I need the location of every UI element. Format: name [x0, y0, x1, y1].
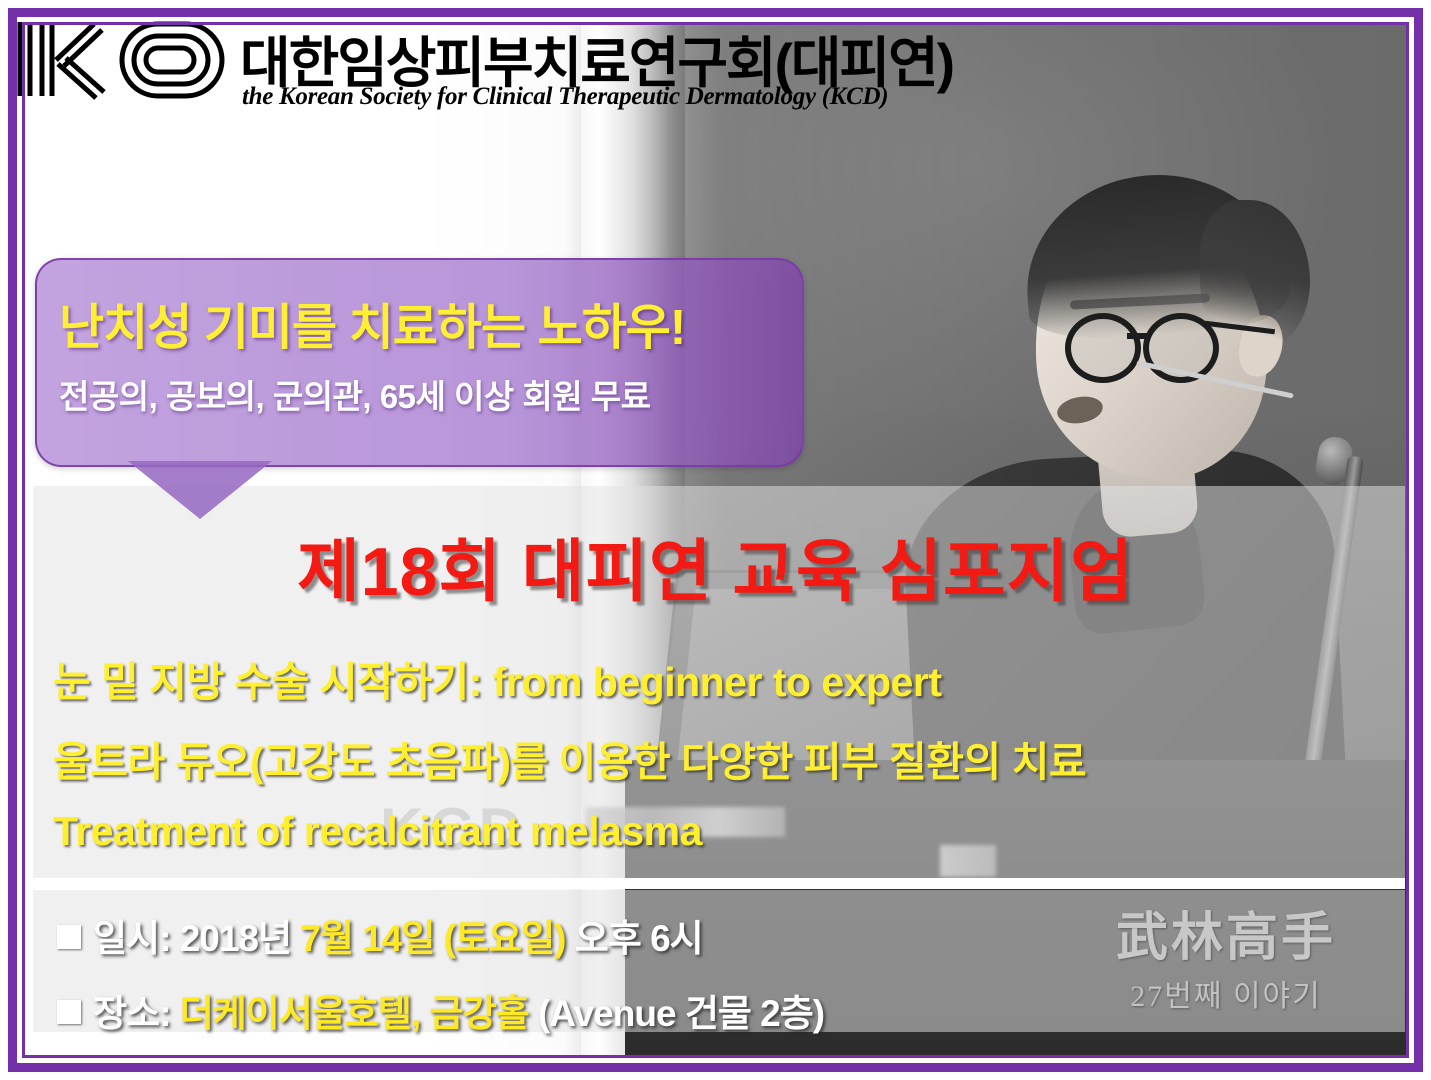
event-venue-row: 장소: 더케이서울호텔, 금강홀 (Avenue 건물 2층)	[57, 983, 824, 1037]
series-episode-label: 27번째 이야기	[1076, 971, 1376, 1015]
eyeglasses-left-lens-icon	[1065, 313, 1141, 383]
promo-speech-bubble: 난치성 기미를 치료하는 노하우! 전공의, 공보의, 군의관, 65세 이상 …	[35, 258, 804, 467]
date-year: 2018년	[180, 918, 291, 959]
eyeglasses-bridge	[1127, 333, 1147, 339]
poster-canvas: KCD	[0, 0, 1431, 1080]
page-title: 제18회 대피연 교육 심포지엄	[0, 516, 1431, 615]
session-line-1: 눈 밑 지방 수술 시작하기: from beginner to expert	[53, 648, 1411, 708]
series-mark: 武林高手 27번째 이야기	[1076, 912, 1376, 1015]
kcd-logo-icon	[8, 12, 233, 107]
date-highlight: 7월 14일 (토요일)	[300, 918, 565, 959]
venue-label: 장소:	[93, 993, 170, 1034]
society-name-english: the Korean Society for Clinical Therapeu…	[242, 83, 888, 111]
bullet-square-icon	[57, 925, 81, 949]
venue-detail: (Avenue 건물 2층)	[538, 993, 824, 1034]
session-line-2: 울트라 듀오(고강도 초음파)를 이용한 다양한 피부 질환의 치료	[53, 728, 1411, 788]
section-divider	[33, 878, 1405, 889]
promo-headline: 난치성 기미를 치료하는 노하우!	[59, 288, 788, 359]
event-date-row: 일시: 2018년 7월 14일 (토요일) 오후 6시	[57, 908, 703, 962]
poster-header: 대한임상피부치료연구회(대피연) the Korean Society for …	[0, 0, 1100, 120]
bullet-square-icon	[57, 1000, 81, 1024]
date-time: 오후 6시	[575, 918, 703, 959]
venue-highlight: 더케이서울호텔, 금강홀	[180, 993, 529, 1034]
speech-bubble-tail	[128, 461, 272, 519]
session-line-3: Treatment of recalcitrant melasma	[53, 808, 1411, 855]
promo-subline: 전공의, 공보의, 군의관, 65세 이상 회원 무료	[59, 370, 788, 418]
date-label: 일시:	[93, 918, 170, 959]
series-title-hanja: 武林高手	[1076, 912, 1376, 967]
